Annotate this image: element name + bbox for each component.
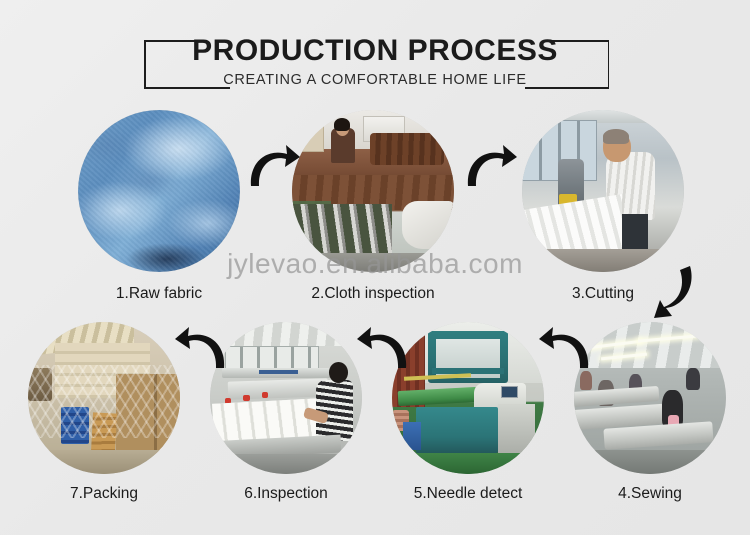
- step-caption-packing: 7.Packing: [24, 486, 184, 502]
- needle-detect-image: [392, 322, 544, 474]
- header: PRODUCTION PROCESS CREATING A COMFORTABL…: [0, 18, 750, 90]
- page-subtitle: CREATING A COMFORTABLE HOME LIFE: [0, 73, 750, 88]
- step-photo-cloth-inspection: [292, 110, 454, 272]
- page-title: PRODUCTION PROCESS: [0, 36, 750, 66]
- step-caption-cloth-inspection: 2.Cloth inspection: [273, 286, 473, 302]
- step-caption-cutting: 3.Cutting: [523, 286, 683, 302]
- production-process-infographic: PRODUCTION PROCESS CREATING A COMFORTABL…: [0, 0, 750, 535]
- step-caption-sewing: 4.Sewing: [570, 486, 730, 502]
- step-caption-needle-detect: 5.Needle detect: [388, 486, 548, 502]
- sewing-image: [574, 322, 726, 474]
- step-photo-cutting: [522, 110, 684, 272]
- cloth-inspection-image: [292, 110, 454, 272]
- step-photo-needle-detect: [392, 322, 544, 474]
- step-photo-inspection: [210, 322, 362, 474]
- cutting-image: [522, 110, 684, 272]
- step-photo-packing: [28, 322, 180, 474]
- arrow-2-to-3-icon: [462, 142, 518, 192]
- step-caption-inspection: 6.Inspection: [206, 486, 366, 502]
- inspection-image: [210, 322, 362, 474]
- step-photo-raw-fabric: [78, 110, 240, 272]
- step-caption-raw-fabric: 1.Raw fabric: [79, 286, 239, 302]
- raw-fabric-image: [78, 110, 240, 272]
- step-photo-sewing: [574, 322, 726, 474]
- packing-image: [28, 322, 180, 474]
